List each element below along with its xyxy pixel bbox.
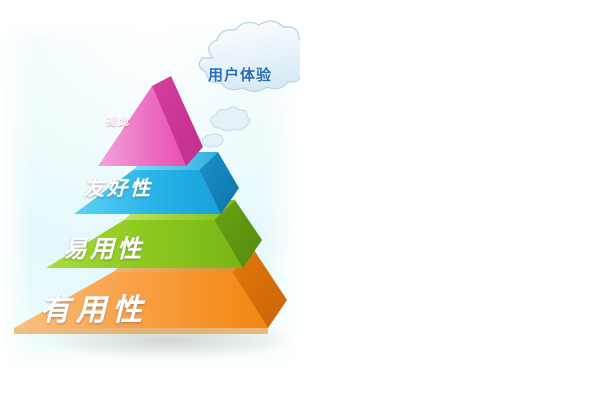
venn-panel: 用户体验的四个要素 用户体验 建立于这四个 互相依赖的 要素 品牌 可用性 功能… bbox=[300, 0, 600, 400]
pyramid-diagram bbox=[0, 0, 300, 400]
infographic-canvas: 视觉 友好性 易用性 有用性 用户体验 用户体验的四个要素 用户体验 建立于这四… bbox=[0, 0, 600, 400]
pyramid-tier-visual[interactable] bbox=[98, 76, 203, 166]
thought-bubble-label: 用户体验 bbox=[208, 64, 272, 85]
